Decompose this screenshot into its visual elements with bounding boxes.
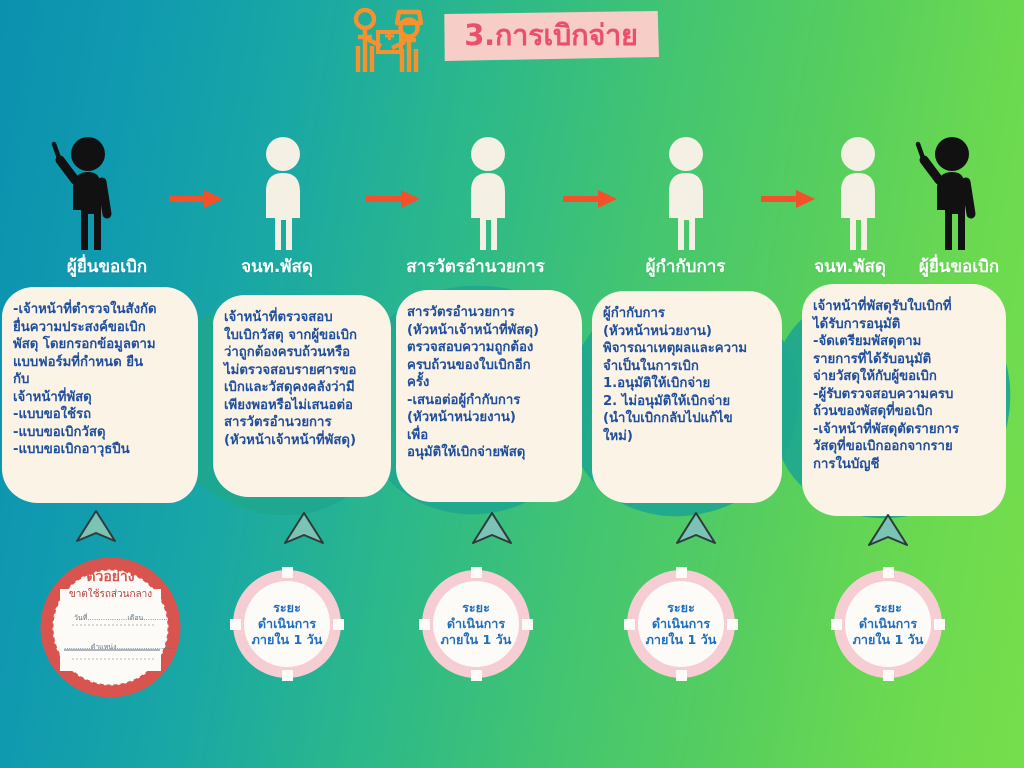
notch-left (624, 619, 635, 630)
time-circle-text-5: ระยะ ดำเนินการ ภายใน 1 วัน (853, 600, 924, 648)
sample-document-seal-icon: ตัวอย่าง ขาตใช้รถส่วนกลาง (38, 555, 183, 700)
flow-arrow-3 (562, 188, 618, 210)
notch-bottom (883, 670, 894, 681)
figure-stage-4 (648, 132, 724, 252)
notch-left (419, 619, 430, 630)
bubble-stage-5: เจ้าหน้าที่พัสดุรับใบเบิกที่ ได้รับการอน… (802, 284, 1006, 516)
notch-right (333, 619, 344, 630)
figure-stage-2 (245, 132, 321, 252)
sample-document-badge: ตัวอย่าง ขาตใช้รถส่วนกลาง วันที่........… (38, 555, 183, 700)
time-circle-stage-4: ระยะ ดำเนินการ ภายใน 1 วัน (627, 570, 735, 678)
infographic-canvas: 3.การเบิกจ่าย (0, 0, 1024, 768)
chevron-pointer-4 (674, 510, 718, 546)
header: 3.การเบิกจ่าย (0, 0, 1024, 78)
time-circle-stage-3: ระยะ ดำเนินการ ภายใน 1 วัน (422, 570, 530, 678)
time-circle-inner: ระยะ ดำเนินการ ภายใน 1 วัน (638, 581, 724, 667)
bubble-stage-3: สารวัตรอำนวยการ (หัวหน้าเจ้าหน้าที่พัสดุ… (396, 290, 582, 502)
time-circle-inner: ระยะ ดำเนินการ ภายใน 1 วัน (845, 581, 931, 667)
bubble-stage-2: เจ้าหน้าที่ตรวจสอบ ใบเบิกวัสดุ จากผู้ขอเ… (213, 295, 391, 497)
bubble-stage-1: -เจ้าหน้าที่ตำรวจในสังกัด ยื่นความประสงค… (2, 287, 198, 503)
page-title: 3.การเบิกจ่าย (464, 21, 637, 50)
sample-doc-stamp-text: ตัวอย่าง (86, 569, 134, 585)
notch-bottom (471, 670, 482, 681)
notch-right (522, 619, 533, 630)
delivery-handoff-icon (347, 6, 429, 76)
time-circle-text-4: ระยะ ดำเนินการ ภายใน 1 วัน (646, 600, 717, 648)
notch-top (282, 567, 293, 578)
notch-right (727, 619, 738, 630)
notch-top (471, 567, 482, 578)
notch-bottom (282, 670, 293, 681)
figure-stage-1 (48, 132, 124, 252)
time-circle-text-2: ระยะ ดำเนินการ ภายใน 1 วัน (252, 600, 323, 648)
notch-top (676, 567, 687, 578)
flow-arrow-2 (365, 188, 421, 210)
notch-bottom (676, 670, 687, 681)
time-circle-inner: ระยะ ดำเนินการ ภายใน 1 วัน (244, 581, 330, 667)
notch-left (831, 619, 842, 630)
chevron-pointer-1 (74, 508, 118, 544)
chevron-pointer-2 (282, 510, 326, 546)
title-banner: 3.การเบิกจ่าย (443, 11, 659, 61)
figure-stage-3 (450, 132, 526, 252)
stage-label-2: จนท.พัสดุ (227, 259, 327, 276)
notch-right (934, 619, 945, 630)
notch-left (230, 619, 241, 630)
flow-arrow-1 (168, 188, 224, 210)
stage-label-1: ผู้ยื่นขอเบิก (52, 259, 162, 276)
figure-stage-6 (910, 132, 986, 252)
notch-top (883, 567, 894, 578)
time-circle-stage-5: ระยะ ดำเนินการ ภายใน 1 วัน (834, 570, 942, 678)
time-circle-inner: ระยะ ดำเนินการ ภายใน 1 วัน (433, 581, 519, 667)
chevron-pointer-3 (470, 510, 514, 546)
time-circle-text-3: ระยะ ดำเนินการ ภายใน 1 วัน (441, 600, 512, 648)
time-circle-stage-2: ระยะ ดำเนินการ ภายใน 1 วัน (233, 570, 341, 678)
chevron-pointer-5 (866, 512, 910, 548)
flow-arrow-4 (760, 188, 816, 210)
sample-doc-heading-text: ขาตใช้รถส่วนกลาง (69, 588, 152, 600)
stage-label-4: ผู้กำกับการ (628, 259, 743, 276)
bubble-stage-4: ผู้กำกับการ (หัวหน้าหน่วยงาน) พิจารณาเหต… (592, 291, 782, 503)
figure-stage-5 (820, 132, 896, 252)
